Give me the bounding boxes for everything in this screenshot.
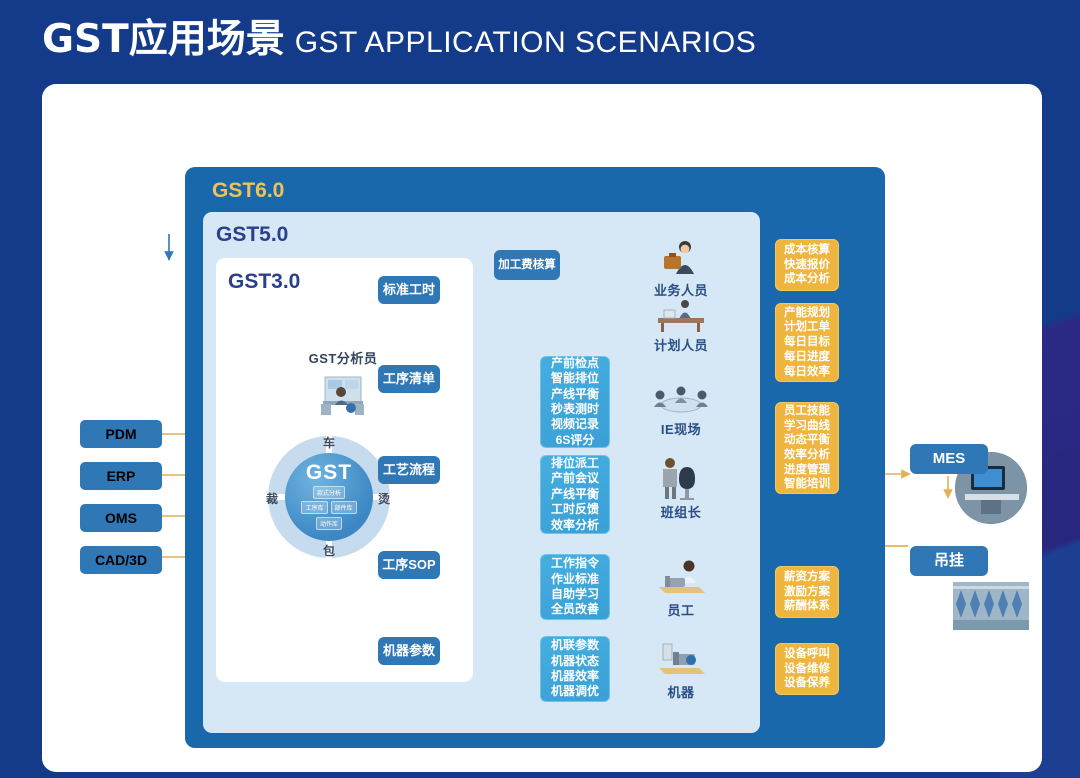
wheel-tag-3: 动作库 — [316, 517, 342, 530]
hanging-line-photo — [953, 582, 1029, 630]
machine-icon — [638, 638, 724, 680]
page-title-cn: GST应用场景 — [42, 8, 285, 64]
result-plan-line-3: 每日进度 — [784, 350, 830, 365]
input-erp[interactable]: ERP — [80, 462, 162, 490]
wheel-quadrant-left: 裁 — [266, 490, 278, 507]
detail-machine-line-1: 机器状态 — [551, 654, 599, 669]
detail-machine-line-2: 机器效率 — [551, 669, 599, 684]
detail-ie[interactable]: 产前检点 智能排位 产线平衡 秒表测时 视频记录 6S评分 — [540, 356, 610, 448]
result-equipment-line-0: 设备呼叫 — [784, 647, 830, 662]
panel-gst3-label: GST3.0 — [228, 270, 300, 294]
result-skill[interactable]: 员工技能 学习曲线 动态平衡 效率分析 进度管理 智能培训 — [775, 402, 839, 494]
result-cost-line-1: 快速报价 — [784, 258, 830, 273]
output-standard-time-label: 标准工时 — [383, 282, 435, 299]
detail-worker[interactable]: 工作指令 作业标准 自助学习 全员改善 — [540, 554, 610, 620]
system-hanging-label: 吊挂 — [934, 551, 964, 570]
output-processing-cost[interactable]: 加工费核算 — [494, 250, 560, 280]
content-card: GST6.0 GST5.0 GST3.0 GST分析员 — [42, 84, 1042, 772]
detail-machine-line-3: 机器调优 — [551, 684, 599, 699]
output-process-sop-label: 工序SOP — [382, 557, 435, 574]
result-salary[interactable]: 薪资方案 激励方案 薪酬体系 — [775, 566, 839, 618]
input-pdm[interactable]: PDM — [80, 420, 162, 448]
output-process-sop[interactable]: 工序SOP — [378, 551, 440, 579]
result-equipment-line-1: 设备维修 — [784, 662, 830, 677]
detail-worker-line-3: 全员改善 — [551, 602, 599, 617]
role-worker[interactable]: 员工 — [638, 556, 724, 619]
wheel-tag-2: 部件库 — [331, 501, 357, 514]
page-title-en: GST APPLICATION SCENARIOS — [295, 26, 757, 60]
detail-leader-line-0: 排位派工 — [551, 456, 599, 471]
result-cost-line-0: 成本核算 — [784, 243, 830, 258]
businessman-icon — [638, 236, 724, 278]
result-equipment-line-2: 设备保养 — [784, 676, 830, 691]
input-oms-label: OMS — [105, 510, 137, 526]
worker-sewing-icon — [638, 556, 724, 598]
role-planner[interactable]: 计划人员 — [638, 291, 724, 354]
system-mes-label: MES — [933, 449, 966, 468]
wheel-tag-0: 款式分析 — [313, 486, 345, 499]
detail-ie-line-1: 智能排位 — [551, 371, 599, 386]
detail-leader-line-2: 产线平衡 — [551, 487, 599, 502]
output-processing-cost-label: 加工费核算 — [498, 258, 556, 273]
output-standard-time[interactable]: 标准工时 — [378, 276, 440, 304]
result-salary-line-2: 薪酬体系 — [784, 599, 830, 614]
result-equipment[interactable]: 设备呼叫 设备维修 设备保养 — [775, 643, 839, 695]
output-process-list[interactable]: 工序清单 — [378, 365, 440, 393]
wheel-quadrant-right: 烫 — [378, 490, 390, 507]
system-mes[interactable]: MES — [910, 444, 988, 474]
result-plan-line-1: 计划工单 — [784, 320, 830, 335]
page-header: GST应用场景 GST APPLICATION SCENARIOS — [42, 8, 756, 70]
result-cost-line-2: 成本分析 — [784, 272, 830, 287]
result-skill-line-1: 学习曲线 — [784, 419, 830, 434]
result-salary-line-1: 激励方案 — [784, 585, 830, 600]
result-plan-line-2: 每日目标 — [784, 335, 830, 350]
detail-ie-line-0: 产前检点 — [551, 356, 599, 371]
team-leader-mannequin-icon — [638, 458, 724, 500]
panel-gst6-label: GST6.0 — [212, 179, 284, 203]
detail-leader-line-1: 产前会议 — [551, 471, 599, 486]
wheel-core: GST 款式分析 工序库 部件库 动作库 — [285, 453, 373, 541]
result-skill-line-4: 进度管理 — [784, 463, 830, 478]
role-team-leader-label: 班组长 — [638, 502, 724, 521]
detail-ie-line-5: 6S评分 — [556, 433, 595, 448]
detail-ie-line-3: 秒表测时 — [551, 402, 599, 417]
detail-leader[interactable]: 排位派工 产前会议 产线平衡 工时反馈 效率分析 — [540, 455, 610, 534]
panel-gst5-label: GST5.0 — [216, 223, 288, 247]
wheel-quadrant-bottom: 包 — [323, 542, 335, 559]
role-ie-label: IE现场 — [638, 419, 724, 438]
output-machine-params[interactable]: 机器参数 — [378, 637, 440, 665]
system-hanging[interactable]: 吊挂 — [910, 546, 988, 576]
role-businessman[interactable]: 业务人员 — [638, 236, 724, 299]
ie-meeting-icon — [638, 375, 724, 417]
result-skill-line-2: 动态平衡 — [784, 433, 830, 448]
result-plan-line-0: 产能规划 — [784, 306, 830, 321]
input-oms[interactable]: OMS — [80, 504, 162, 532]
input-cad3d[interactable]: CAD/3D — [80, 546, 162, 574]
output-process-flow[interactable]: 工艺流程 — [378, 456, 440, 484]
role-ie[interactable]: IE现场 — [638, 375, 724, 438]
output-process-list-label: 工序清单 — [383, 371, 435, 388]
output-process-flow-label: 工艺流程 — [383, 462, 435, 479]
planner-desk-icon — [638, 291, 724, 333]
detail-leader-line-3: 工时反馈 — [551, 502, 599, 517]
result-plan[interactable]: 产能规划 计划工单 每日目标 每日进度 每日效率 — [775, 303, 839, 382]
gst-wheel: GST 款式分析 工序库 部件库 动作库 车 烫 包 裁 — [268, 436, 390, 558]
input-erp-label: ERP — [107, 468, 136, 484]
detail-ie-line-2: 产线平衡 — [551, 387, 599, 402]
role-machine[interactable]: 机器 — [638, 638, 724, 701]
role-team-leader[interactable]: 班组长 — [638, 458, 724, 521]
result-salary-line-0: 薪资方案 — [784, 570, 830, 585]
input-pdm-label: PDM — [105, 426, 136, 442]
role-planner-label: 计划人员 — [638, 335, 724, 354]
output-machine-params-label: 机器参数 — [383, 643, 435, 660]
detail-machine-line-0: 机联参数 — [551, 638, 599, 653]
detail-ie-line-4: 视频记录 — [551, 417, 599, 432]
input-systems-group: PDM ERP OMS CAD/3D — [80, 420, 184, 588]
input-cad3d-label: CAD/3D — [95, 552, 147, 568]
result-skill-line-3: 效率分析 — [784, 448, 830, 463]
detail-worker-line-2: 自助学习 — [551, 587, 599, 602]
role-machine-label: 机器 — [638, 682, 724, 701]
result-cost[interactable]: 成本核算 快速报价 成本分析 — [775, 239, 839, 291]
detail-worker-line-0: 工作指令 — [551, 556, 599, 571]
wheel-tag-1: 工序库 — [301, 501, 327, 514]
wheel-quadrant-top: 车 — [323, 434, 335, 451]
detail-worker-line-1: 作业标准 — [551, 572, 599, 587]
detail-machine[interactable]: 机联参数 机器状态 机器效率 机器调优 — [540, 636, 610, 702]
result-skill-line-5: 智能培训 — [784, 477, 830, 492]
wheel-center-label: GST — [306, 462, 352, 483]
role-worker-label: 员工 — [638, 600, 724, 619]
result-plan-line-4: 每日效率 — [784, 365, 830, 380]
result-skill-line-0: 员工技能 — [784, 404, 830, 419]
detail-leader-line-4: 效率分析 — [551, 518, 599, 533]
